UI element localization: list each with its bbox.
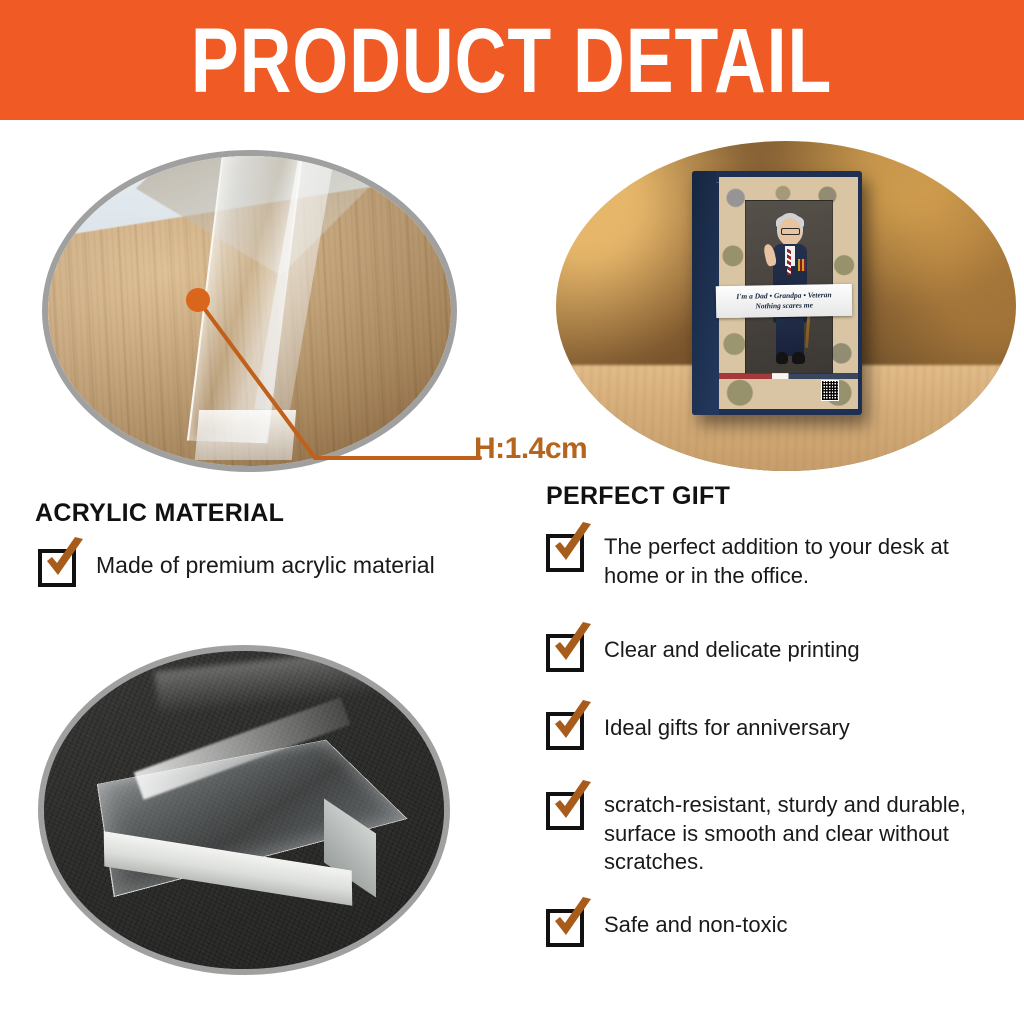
- product-package: I'm a Dad • Grandpa • Veteran Nothing sc…: [692, 171, 862, 415]
- checkbox-checked-icon[interactable]: [546, 788, 586, 828]
- checkmark-icon: [42, 537, 86, 583]
- checkmark-icon: [550, 897, 594, 943]
- checkmark-icon: [550, 522, 594, 568]
- header-banner: PRODUCT DETAIL: [0, 0, 1024, 120]
- slate-photo-scene: [44, 651, 444, 969]
- measurement-label: H:1.4cm: [474, 432, 587, 466]
- figurine-legs: [776, 318, 803, 356]
- feature-item: Made of premium acrylic material: [38, 545, 508, 585]
- feature-text: Clear and delicate printing: [604, 630, 860, 665]
- edge-photo-scene: [48, 156, 451, 466]
- checkmark-icon: [550, 622, 594, 668]
- checkmark-icon: [550, 700, 594, 746]
- package-left-side: [692, 171, 719, 415]
- medals-icon: [798, 259, 806, 271]
- checkbox-checked-icon[interactable]: [546, 708, 586, 748]
- feature-item: scratch-resistant, sturdy and durable, s…: [546, 788, 1006, 877]
- feature-item: The perfect addition to your desk at hom…: [546, 530, 1006, 590]
- feature-item: Ideal gifts for anniversary: [546, 708, 1006, 748]
- checkbox-checked-icon[interactable]: [546, 905, 586, 945]
- checkbox-checked-icon[interactable]: [546, 630, 586, 670]
- acrylic-edge-on-wood-photo: [42, 150, 457, 472]
- gift-box-scene: I'm a Dad • Grandpa • Veteran Nothing sc…: [556, 141, 1016, 471]
- checkbox-checked-icon[interactable]: [546, 530, 586, 570]
- figurine-tie: [787, 249, 791, 275]
- checkbox-checked-icon[interactable]: [38, 545, 78, 585]
- package-slogan-line-2: Nothing scares me: [755, 301, 813, 311]
- figurine-shoe-left: [776, 352, 789, 364]
- feature-item: Safe and non-toxic: [546, 905, 1006, 945]
- gift-box-photo: I'm a Dad • Grandpa • Veteran Nothing sc…: [556, 141, 1016, 471]
- section-heading-acrylic-material: ACRYLIC MATERIAL: [35, 499, 284, 528]
- figurine-shoe-right: [792, 352, 805, 364]
- package-flag-stripe: [719, 373, 859, 379]
- feature-text: scratch-resistant, sturdy and durable, s…: [604, 788, 1006, 877]
- feature-text: Safe and non-toxic: [604, 905, 787, 940]
- acrylic-slab-base: [195, 410, 296, 460]
- feature-text: The perfect addition to your desk at hom…: [604, 530, 1006, 590]
- qr-code-icon: [821, 380, 839, 401]
- glasses-icon: [781, 228, 800, 235]
- page-title: PRODUCT DETAIL: [191, 14, 832, 106]
- feature-text: Ideal gifts for anniversary: [604, 708, 850, 743]
- acrylic-block-on-slate-photo: [38, 645, 450, 975]
- section-heading-perfect-gift: PERFECT GIFT: [546, 482, 730, 511]
- checkmark-icon: [550, 780, 594, 826]
- package-slogan-banner: I'm a Dad • Grandpa • Veteran Nothing sc…: [715, 284, 852, 318]
- feature-text: Made of premium acrylic material: [96, 545, 435, 581]
- feature-item: Clear and delicate printing: [546, 630, 1006, 670]
